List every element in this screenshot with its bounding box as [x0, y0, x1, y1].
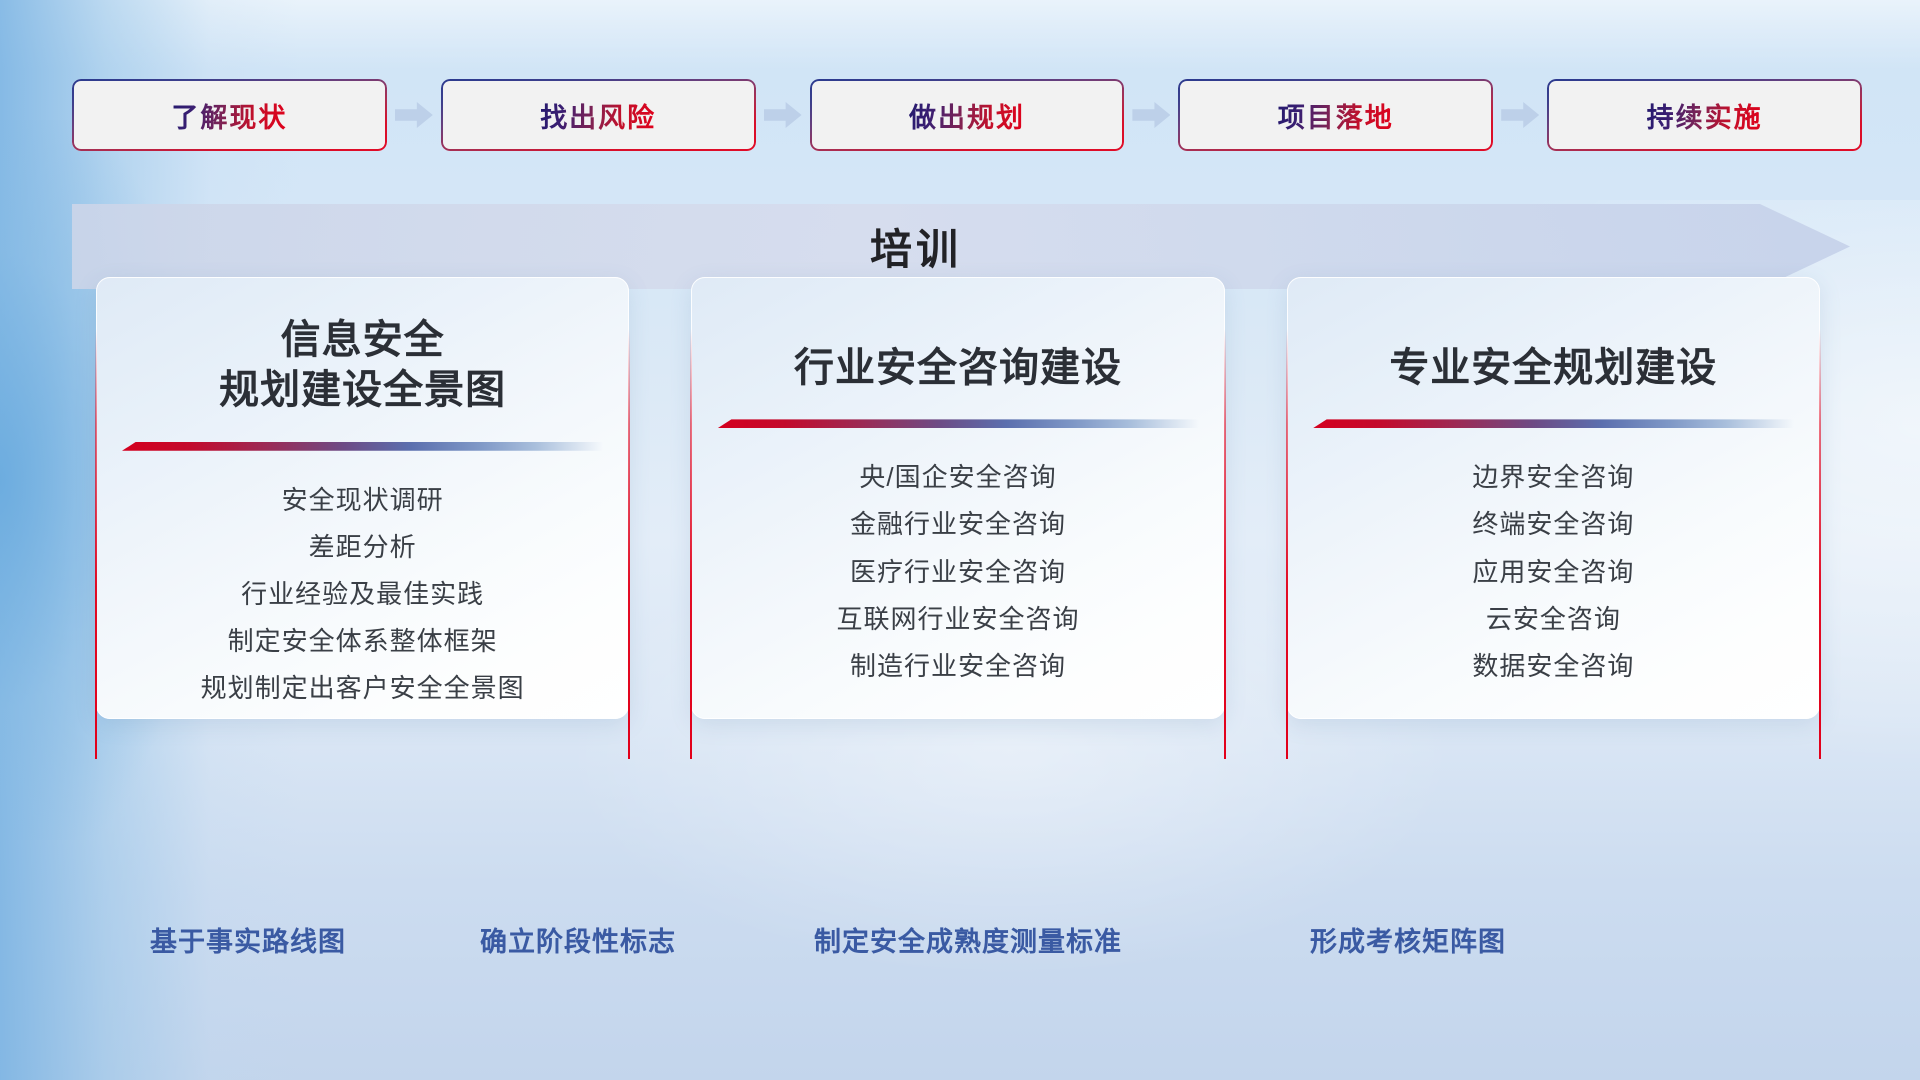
card-1[interactable]: 信息安全 规划建设全景图 安全现状调研 差距分析 行业经验及最佳实践 制定安全体… [96, 277, 629, 719]
list-item: 差距分析 [96, 524, 629, 571]
card-3-divider [1313, 419, 1794, 428]
list-item: 数据安全咨询 [1287, 643, 1820, 690]
list-item: 制造行业安全咨询 [691, 643, 1224, 690]
process-step-flow: 了解现状 找出风险 做出规划 项目落地 持续实施 [72, 79, 1862, 151]
step-arrow-icon-3 [1124, 98, 1178, 132]
list-item: 医疗行业安全咨询 [691, 549, 1224, 596]
card-2-title: 行业安全咨询建设 [691, 277, 1224, 393]
step-arrow-icon-4 [1493, 98, 1547, 132]
step-label-1: 了解现状 [171, 96, 287, 135]
step-box-2[interactable]: 找出风险 [441, 79, 756, 151]
card-1-divider [122, 442, 603, 451]
list-item: 金融行业安全咨询 [691, 501, 1224, 548]
list-item: 终端安全咨询 [1287, 501, 1820, 548]
step-box-5[interactable]: 持续实施 [1547, 79, 1862, 151]
outcome-label-row: 基于事实路线图 确立阶段性标志 制定安全成熟度测量标准 形成考核矩阵图 [0, 920, 1920, 966]
card-2-divider [717, 419, 1198, 428]
list-item: 制定安全体系整体框架 [96, 618, 629, 665]
step-arrow-icon-1 [387, 98, 441, 132]
list-item: 安全现状调研 [96, 477, 629, 524]
step-arrow-icon-2 [756, 98, 810, 132]
step-box-3[interactable]: 做出规划 [810, 79, 1125, 151]
list-item: 互联网行业安全咨询 [691, 596, 1224, 643]
list-item: 云安全咨询 [1287, 596, 1820, 643]
card-2[interactable]: 行业安全咨询建设 央/国企安全咨询 金融行业安全咨询 医疗行业安全咨询 互联网行… [691, 277, 1224, 719]
card-3[interactable]: 专业安全规划建设 边界安全咨询 终端安全咨询 应用安全咨询 云安全咨询 数据安全… [1287, 277, 1820, 719]
step-box-1[interactable]: 了解现状 [72, 79, 387, 151]
card-group: 信息安全 规划建设全景图 安全现状调研 差距分析 行业经验及最佳实践 制定安全体… [96, 277, 1820, 719]
card-2-list: 央/国企安全咨询 金融行业安全咨询 医疗行业安全咨询 互联网行业安全咨询 制造行… [691, 428, 1224, 689]
step-label-4: 项目落地 [1278, 96, 1394, 135]
card-1-list: 安全现状调研 差距分析 行业经验及最佳实践 制定安全体系整体框架 规划制定出客户… [96, 451, 629, 712]
card-1-title: 信息安全 规划建设全景图 [96, 277, 629, 416]
list-item: 应用安全咨询 [1287, 549, 1820, 596]
card-3-list: 边界安全咨询 终端安全咨询 应用安全咨询 云安全咨询 数据安全咨询 [1287, 428, 1820, 689]
card-3-title: 专业安全规划建设 [1287, 277, 1820, 393]
outcome-label-1: 基于事实路线图 [150, 920, 346, 959]
step-label-2: 找出风险 [540, 96, 656, 135]
list-item: 边界安全咨询 [1287, 454, 1820, 501]
outcome-label-4: 形成考核矩阵图 [1310, 920, 1506, 959]
slide-canvas: 了解现状 找出风险 做出规划 项目落地 持续实施 培训 [0, 0, 1920, 1080]
outcome-label-3: 制定安全成熟度测量标准 [814, 920, 1122, 959]
list-item: 行业经验及最佳实践 [96, 571, 629, 618]
outcome-label-2: 确立阶段性标志 [480, 920, 676, 959]
step-label-3: 做出规划 [909, 96, 1025, 135]
step-label-5: 持续实施 [1647, 96, 1763, 135]
list-item: 规划制定出客户安全全景图 [96, 665, 629, 712]
step-box-4[interactable]: 项目落地 [1178, 79, 1493, 151]
list-item: 央/国企安全咨询 [691, 454, 1224, 501]
